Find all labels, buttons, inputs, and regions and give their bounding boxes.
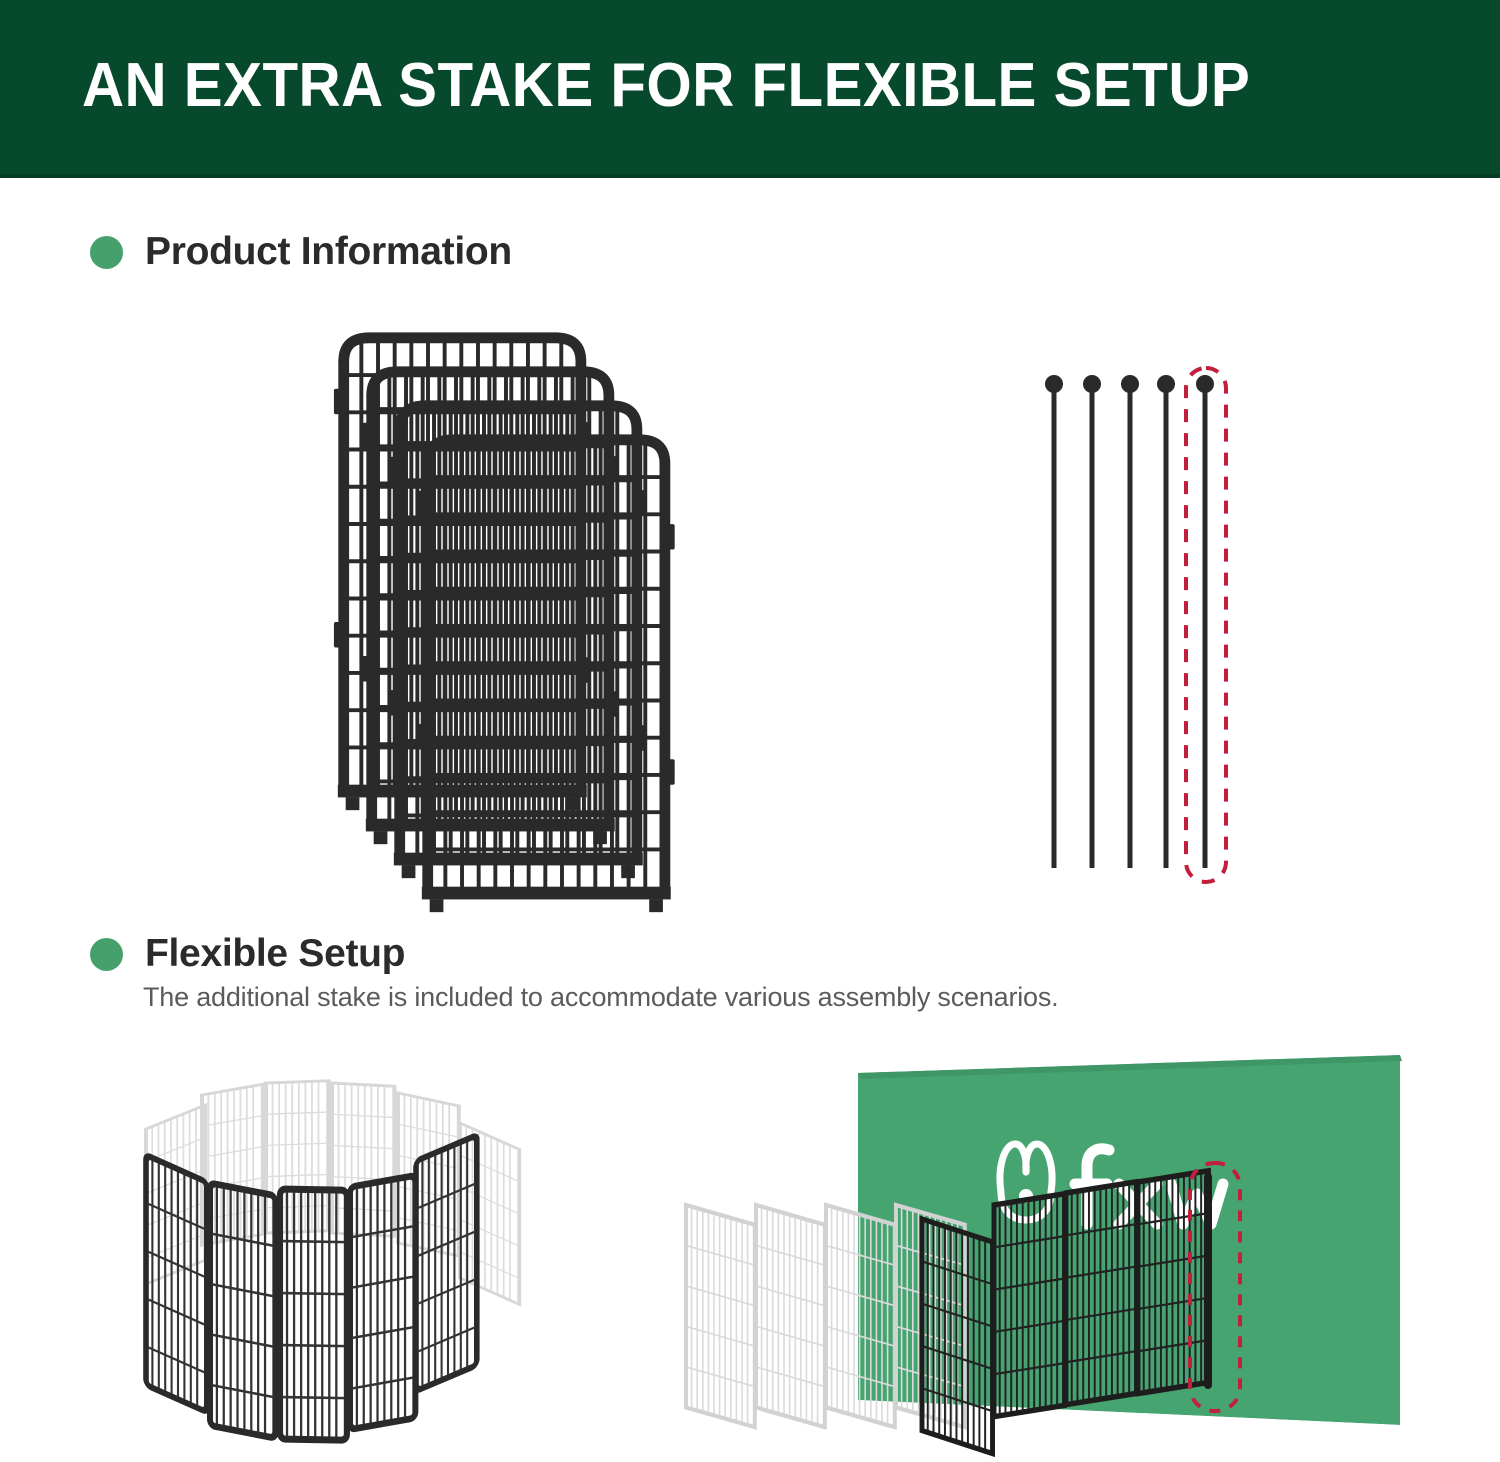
stake-3 — [1121, 375, 1139, 868]
ground-stakes-illustration — [1030, 360, 1250, 890]
stake-5-highlighted — [1196, 375, 1214, 868]
stake-4 — [1157, 375, 1175, 868]
stake-1 — [1045, 375, 1063, 868]
octagonal-playpen-illustration — [110, 1075, 600, 1455]
section-heading-product-information: Product Information — [90, 230, 512, 274]
header-banner: AN EXTRA STAKE FOR FLEXIBLE SETUP — [0, 0, 1500, 178]
section-description: The additional stake is included to acco… — [143, 982, 1058, 1013]
stacked-fence-panels-illustration — [300, 300, 730, 910]
fence-against-wall-illustration — [650, 1055, 1410, 1460]
section-label: Product Information — [145, 230, 512, 274]
bullet-dot-icon — [90, 938, 123, 971]
section-label: Flexible Setup — [145, 932, 405, 976]
stake-2 — [1083, 375, 1101, 868]
bullet-dot-icon — [90, 236, 123, 269]
page-title: AN EXTRA STAKE FOR FLEXIBLE SETUP — [82, 50, 1250, 121]
infographic-page: AN EXTRA STAKE FOR FLEXIBLE SETUP Produc… — [0, 0, 1500, 1462]
section-heading-flexible-setup: Flexible Setup — [90, 932, 405, 976]
